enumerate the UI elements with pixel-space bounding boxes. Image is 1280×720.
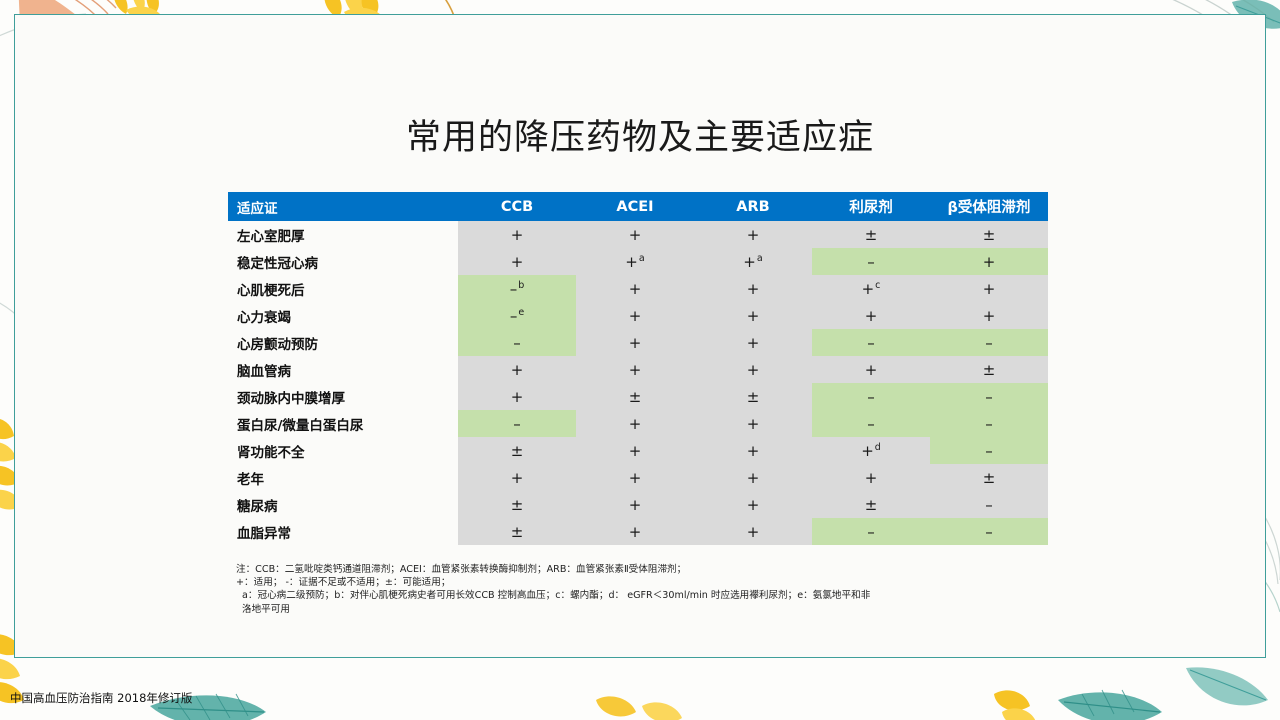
source-citation: 中国高血压防治指南 2018年修订版	[10, 690, 192, 706]
cell-r11-c1: +	[576, 518, 694, 545]
cell-value: –	[985, 523, 993, 541]
table-row: 心力衰竭–e++++	[228, 302, 1048, 329]
leaf-teal-bottomright	[1058, 667, 1268, 720]
cell-r1-c2: +a	[694, 248, 812, 275]
cell-value: +	[983, 307, 996, 325]
cell-r2-c2: +	[694, 275, 812, 302]
cell-r0-c4: ±	[930, 221, 1048, 248]
cell-value: +	[861, 442, 874, 460]
table-header-row: 适应证 CCB ACEI ARB 利尿剂 β受体阻滞剂	[228, 192, 1048, 221]
cell-value: +	[629, 334, 642, 352]
cell-value: +	[629, 442, 642, 460]
cell-value: ±	[983, 226, 996, 244]
cell-value: –	[867, 334, 875, 352]
cell-r7-c3: –	[812, 410, 930, 437]
table-header: 适应证 CCB ACEI ARB 利尿剂 β受体阻滞剂	[228, 192, 1048, 221]
cell-r2-c4: +	[930, 275, 1048, 302]
row-label: 左心室肥厚	[228, 221, 458, 248]
cell-value: +	[743, 253, 756, 271]
cell-r4-c4: –	[930, 329, 1048, 356]
footnote-block: 注：CCB：二氢吡啶类钙通道阻滞剂；ACEI：血管紧张素转换酶抑制剂；ARB：血…	[236, 563, 876, 616]
cell-value: –	[867, 253, 875, 271]
table-row: 糖尿病±++±–	[228, 491, 1048, 518]
cell-r0-c3: ±	[812, 221, 930, 248]
cell-value: +	[747, 361, 760, 379]
cell-value: +	[747, 280, 760, 298]
cell-r10-c0: ±	[458, 491, 576, 518]
cell-r8-c2: +	[694, 437, 812, 464]
row-label: 老年	[228, 464, 458, 491]
row-label: 蛋白尿/微量白蛋白尿	[228, 410, 458, 437]
cell-value: –	[985, 388, 993, 406]
cell-r6-c3: –	[812, 383, 930, 410]
flower-yellow-bottomright	[994, 690, 1036, 720]
column-header-beta-blocker: β受体阻滞剂	[930, 192, 1048, 221]
cell-value: –	[513, 334, 521, 352]
row-label: 肾功能不全	[228, 437, 458, 464]
cell-r5-c2: +	[694, 356, 812, 383]
cell-value: ±	[983, 469, 996, 487]
cell-r0-c2: +	[694, 221, 812, 248]
cell-value: ±	[865, 496, 878, 514]
cell-value: –	[867, 388, 875, 406]
cell-value: –	[510, 307, 518, 325]
cell-value: –	[985, 442, 993, 460]
cell-value: –	[510, 280, 518, 298]
cell-r8-c1: +	[576, 437, 694, 464]
cell-value: +	[747, 469, 760, 487]
cell-r10-c4: –	[930, 491, 1048, 518]
cell-value: +	[865, 307, 878, 325]
cell-value: +	[629, 226, 642, 244]
cell-value: +	[511, 361, 524, 379]
indications-table-container: 适应证 CCB ACEI ARB 利尿剂 β受体阻滞剂 左心室肥厚+++±±稳定…	[228, 192, 1048, 545]
cell-value: +	[747, 307, 760, 325]
cell-r2-c1: +	[576, 275, 694, 302]
cell-footnote-marker: b	[518, 280, 524, 291]
cell-value: +	[747, 334, 760, 352]
cell-value: +	[983, 280, 996, 298]
table-row: 左心室肥厚+++±±	[228, 221, 1048, 248]
column-header-indication: 适应证	[228, 192, 458, 221]
cell-value: –	[985, 334, 993, 352]
cell-r5-c4: ±	[930, 356, 1048, 383]
cell-r7-c4: –	[930, 410, 1048, 437]
table-row: 蛋白尿/微量白蛋白尿–++––	[228, 410, 1048, 437]
cell-r1-c4: +	[930, 248, 1048, 275]
cell-r9-c4: ±	[930, 464, 1048, 491]
cell-value: +	[629, 523, 642, 541]
cell-value: ±	[629, 388, 642, 406]
cell-r4-c2: +	[694, 329, 812, 356]
cell-value: +	[629, 415, 642, 433]
cell-r3-c2: +	[694, 302, 812, 329]
row-label: 颈动脉内中膜增厚	[228, 383, 458, 410]
cell-value: ±	[511, 442, 524, 460]
cell-r5-c1: +	[576, 356, 694, 383]
row-label: 心房颤动预防	[228, 329, 458, 356]
cell-value: +	[862, 280, 875, 298]
cell-value: +	[511, 388, 524, 406]
cell-value: –	[867, 415, 875, 433]
cell-r8-c0: ±	[458, 437, 576, 464]
table-row: 脑血管病++++±	[228, 356, 1048, 383]
column-header-acei: ACEI	[576, 192, 694, 221]
cell-r11-c4: –	[930, 518, 1048, 545]
cell-value: +	[511, 253, 524, 271]
cell-value: –	[513, 415, 521, 433]
cell-r7-c1: +	[576, 410, 694, 437]
cell-value: ±	[511, 496, 524, 514]
footnote-line-1: 注：CCB：二氢吡啶类钙通道阻滞剂；ACEI：血管紧张素转换酶抑制剂；ARB：血…	[236, 563, 876, 576]
cell-value: –	[985, 415, 993, 433]
cell-r7-c0: –	[458, 410, 576, 437]
cell-r2-c0: –b	[458, 275, 576, 302]
cell-value: +	[865, 469, 878, 487]
cell-value: ±	[511, 523, 524, 541]
flower-yellow-bottom	[596, 696, 682, 720]
cell-footnote-marker: c	[875, 280, 880, 291]
cell-r8-c4: –	[930, 437, 1048, 464]
cell-r10-c3: ±	[812, 491, 930, 518]
cell-r0-c0: +	[458, 221, 576, 248]
cell-r4-c3: –	[812, 329, 930, 356]
cell-r3-c4: +	[930, 302, 1048, 329]
cell-value: +	[629, 280, 642, 298]
cell-value: –	[867, 523, 875, 541]
cell-r2-c3: +c	[812, 275, 930, 302]
cell-r6-c0: +	[458, 383, 576, 410]
cell-value: +	[747, 226, 760, 244]
cell-value: +	[747, 496, 760, 514]
cell-r3-c1: +	[576, 302, 694, 329]
table-body: 左心室肥厚+++±±稳定性冠心病++a+a–+心肌梗死后–b+++c+心力衰竭–…	[228, 221, 1048, 545]
cell-value: +	[629, 496, 642, 514]
table-row: 老年++++±	[228, 464, 1048, 491]
cell-footnote-marker: d	[875, 442, 881, 453]
table-row: 肾功能不全±+++d–	[228, 437, 1048, 464]
cell-r11-c3: –	[812, 518, 930, 545]
column-header-diuretic: 利尿剂	[812, 192, 930, 221]
table-row: 心肌梗死后–b+++c+	[228, 275, 1048, 302]
cell-r9-c0: +	[458, 464, 576, 491]
cell-r9-c2: +	[694, 464, 812, 491]
cell-value: –	[985, 496, 993, 514]
cell-r3-c0: –e	[458, 302, 576, 329]
cell-r5-c0: +	[458, 356, 576, 383]
cell-r7-c2: +	[694, 410, 812, 437]
cell-footnote-marker: a	[639, 253, 645, 264]
cell-value: +	[629, 307, 642, 325]
row-label: 血脂异常	[228, 518, 458, 545]
footnote-line-2: +：适用； -：证据不足或不适用；±：可能适用；	[236, 576, 876, 589]
row-label: 脑血管病	[228, 356, 458, 383]
cell-r10-c1: +	[576, 491, 694, 518]
cell-r1-c0: +	[458, 248, 576, 275]
cell-r4-c0: –	[458, 329, 576, 356]
cell-r9-c3: +	[812, 464, 930, 491]
table-row: 血脂异常±++––	[228, 518, 1048, 545]
cell-r3-c3: +	[812, 302, 930, 329]
cell-r0-c1: +	[576, 221, 694, 248]
cell-value: +	[747, 415, 760, 433]
column-header-ccb: CCB	[458, 192, 576, 221]
cell-footnote-marker: a	[757, 253, 763, 264]
cell-value: +	[629, 469, 642, 487]
cell-r11-c0: ±	[458, 518, 576, 545]
cell-r4-c1: +	[576, 329, 694, 356]
cell-value: +	[511, 226, 524, 244]
row-label: 心力衰竭	[228, 302, 458, 329]
cell-r11-c2: +	[694, 518, 812, 545]
cell-r6-c1: ±	[576, 383, 694, 410]
cell-value: +	[747, 442, 760, 460]
cell-footnote-marker: e	[518, 307, 524, 318]
cell-r1-c1: +a	[576, 248, 694, 275]
table-row: 心房颤动预防–++––	[228, 329, 1048, 356]
cell-value: ±	[747, 388, 760, 406]
row-label: 糖尿病	[228, 491, 458, 518]
cell-r9-c1: +	[576, 464, 694, 491]
cell-value: +	[511, 469, 524, 487]
cell-value: ±	[865, 226, 878, 244]
cell-r10-c2: +	[694, 491, 812, 518]
row-label: 稳定性冠心病	[228, 248, 458, 275]
cell-value: ±	[983, 361, 996, 379]
column-header-arb: ARB	[694, 192, 812, 221]
indications-table: 适应证 CCB ACEI ARB 利尿剂 β受体阻滞剂 左心室肥厚+++±±稳定…	[228, 192, 1048, 545]
cell-value: +	[747, 523, 760, 541]
cell-r8-c3: +d	[812, 437, 930, 464]
cell-r5-c3: +	[812, 356, 930, 383]
cell-value: +	[629, 361, 642, 379]
page-title: 常用的降压药物及主要适应症	[0, 109, 1280, 160]
cell-r6-c2: ±	[694, 383, 812, 410]
cell-r1-c3: –	[812, 248, 930, 275]
cell-value: +	[983, 253, 996, 271]
row-label: 心肌梗死后	[228, 275, 458, 302]
table-row: 稳定性冠心病++a+a–+	[228, 248, 1048, 275]
cell-r6-c4: –	[930, 383, 1048, 410]
footnote-line-3: a：冠心病二级预防；b：对伴心肌梗死病史者可用长效CCB 控制高血压；c：螺内酯…	[236, 589, 876, 615]
cell-value: +	[625, 253, 638, 271]
cell-value: +	[865, 361, 878, 379]
table-row: 颈动脉内中膜增厚+±±––	[228, 383, 1048, 410]
